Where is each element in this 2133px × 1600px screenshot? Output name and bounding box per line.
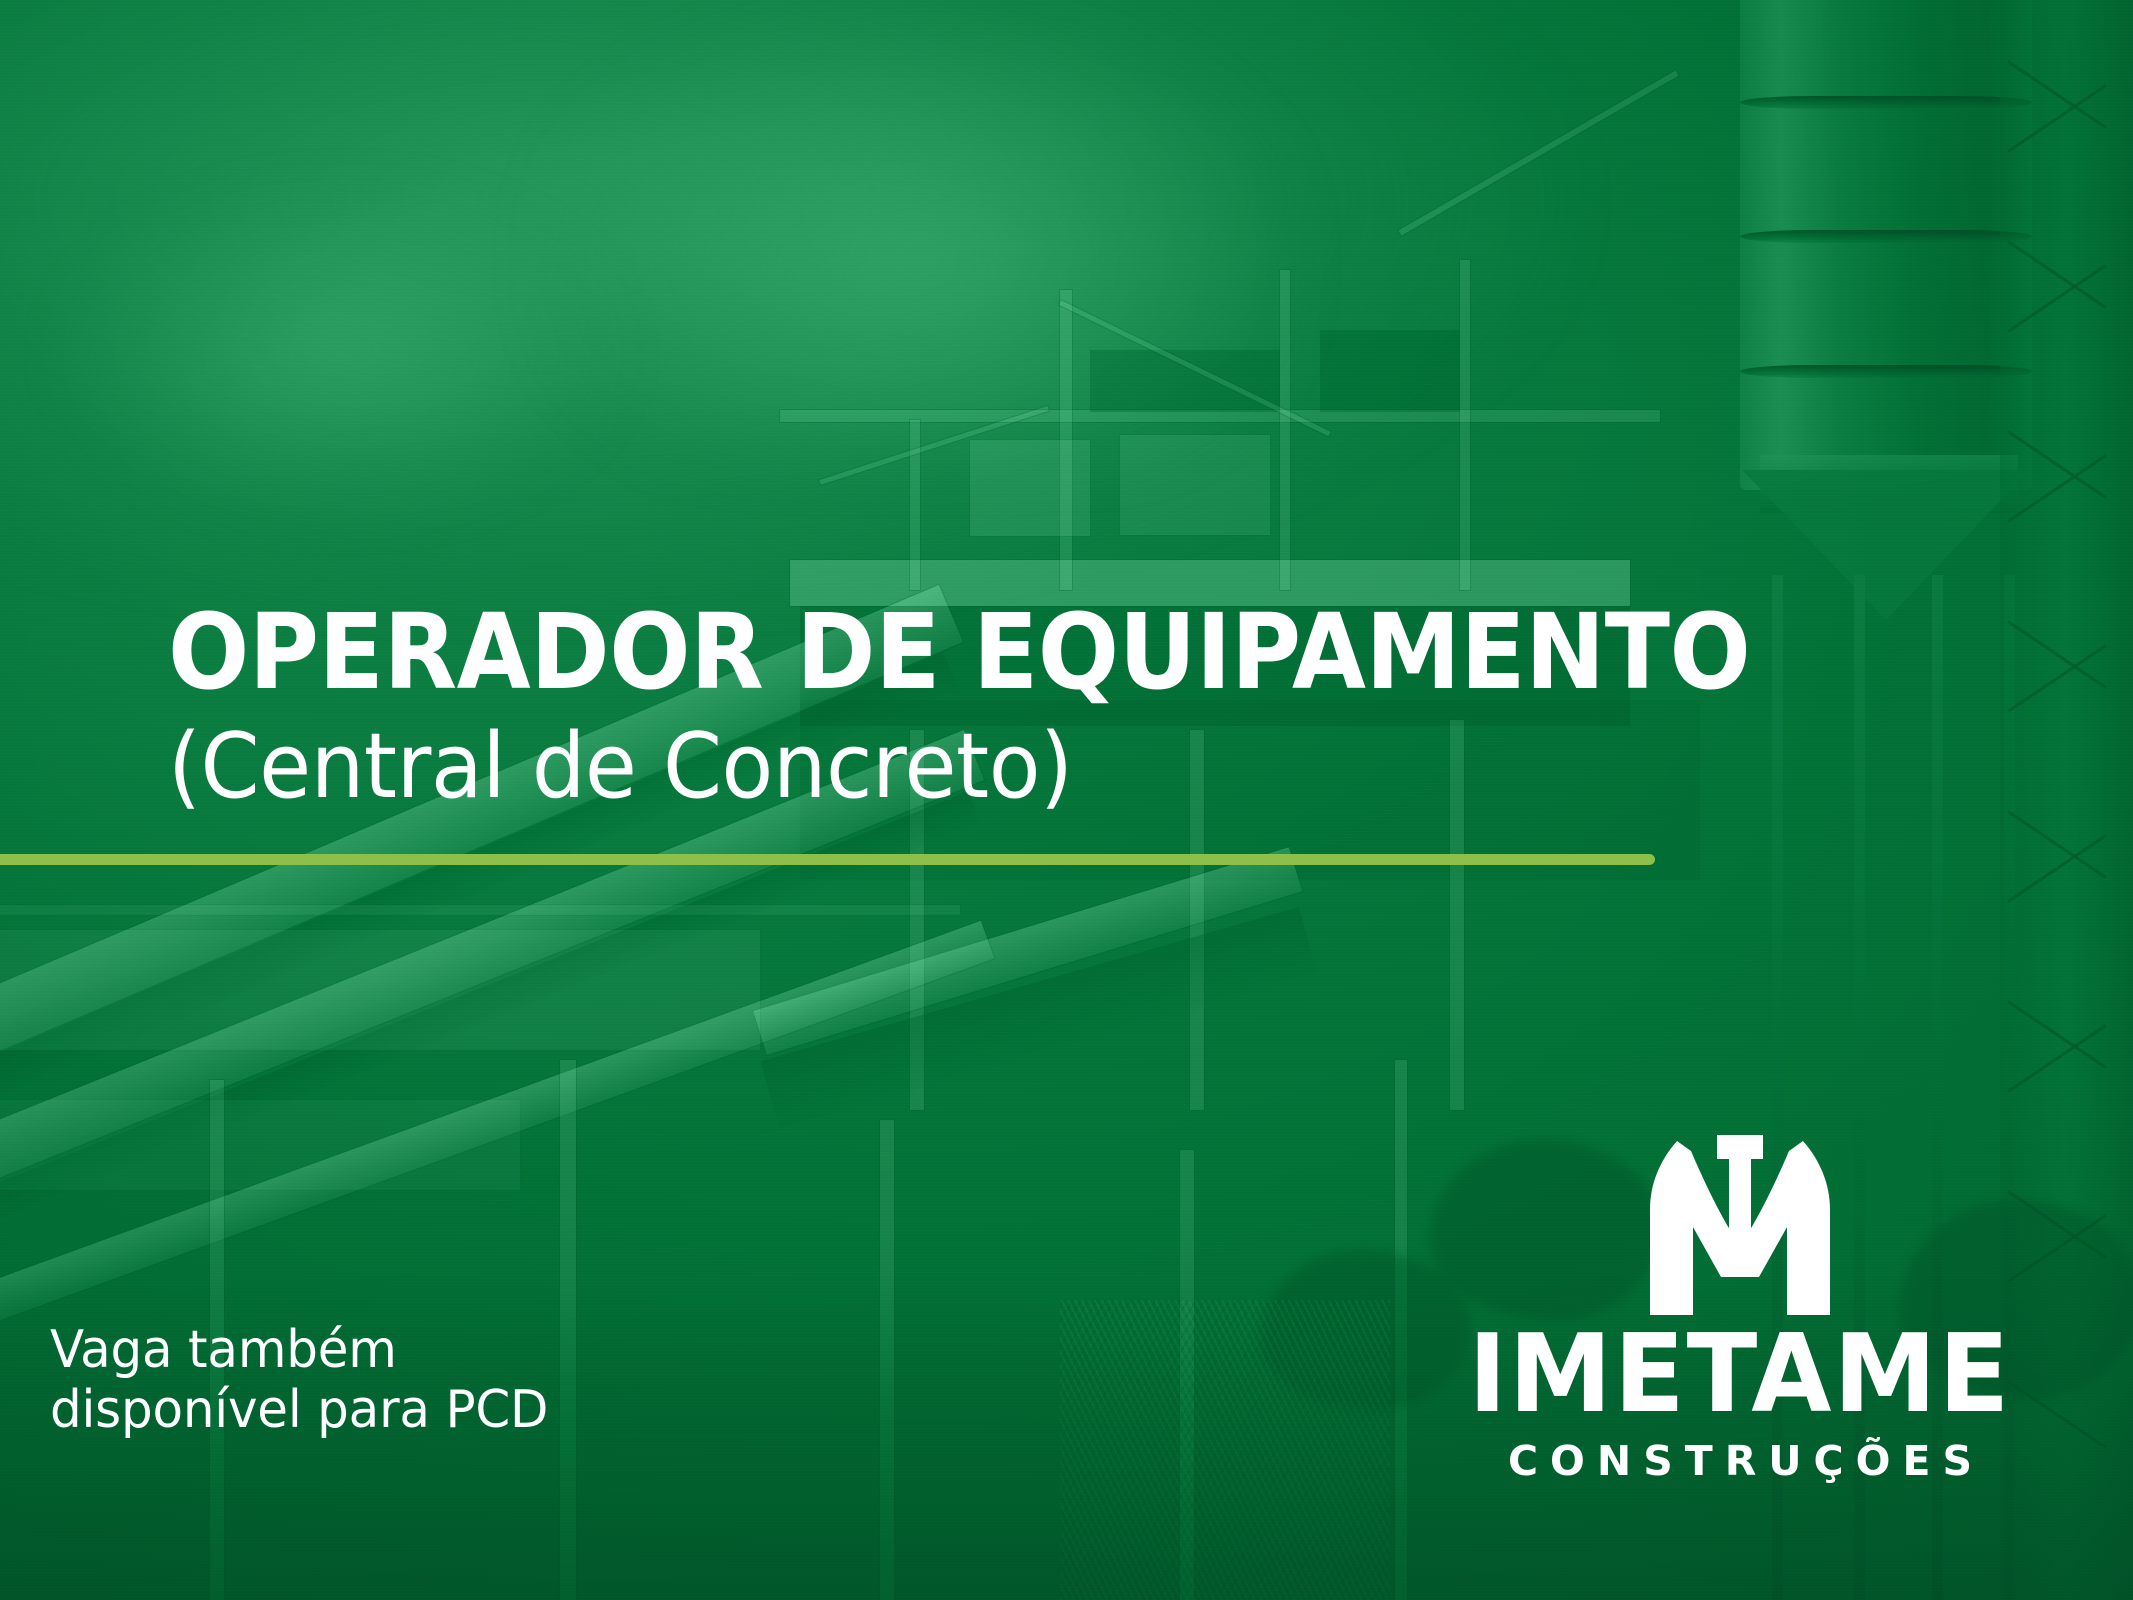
imetame-monogram-icon	[1647, 1135, 1833, 1315]
poster-canvas: OPERADOR DE EQUIPAMENTO (Central de Conc…	[0, 0, 2133, 1600]
poster-content: OPERADOR DE EQUIPAMENTO (Central de Conc…	[0, 0, 2133, 1600]
pcd-availability-note: Vaga também disponível para PCD	[50, 1320, 548, 1441]
imetame-logo: IMETAME CONSTRUÇÕES	[1435, 1135, 2045, 1482]
imetame-wordmark: IMETAME	[1469, 1321, 2012, 1429]
imetame-tagline: CONSTRUÇÕES	[1496, 1441, 1984, 1482]
lime-divider	[0, 854, 1655, 865]
job-title: OPERADOR DE EQUIPAMENTO	[168, 600, 1750, 704]
job-subtitle: (Central de Concreto)	[168, 722, 1073, 812]
